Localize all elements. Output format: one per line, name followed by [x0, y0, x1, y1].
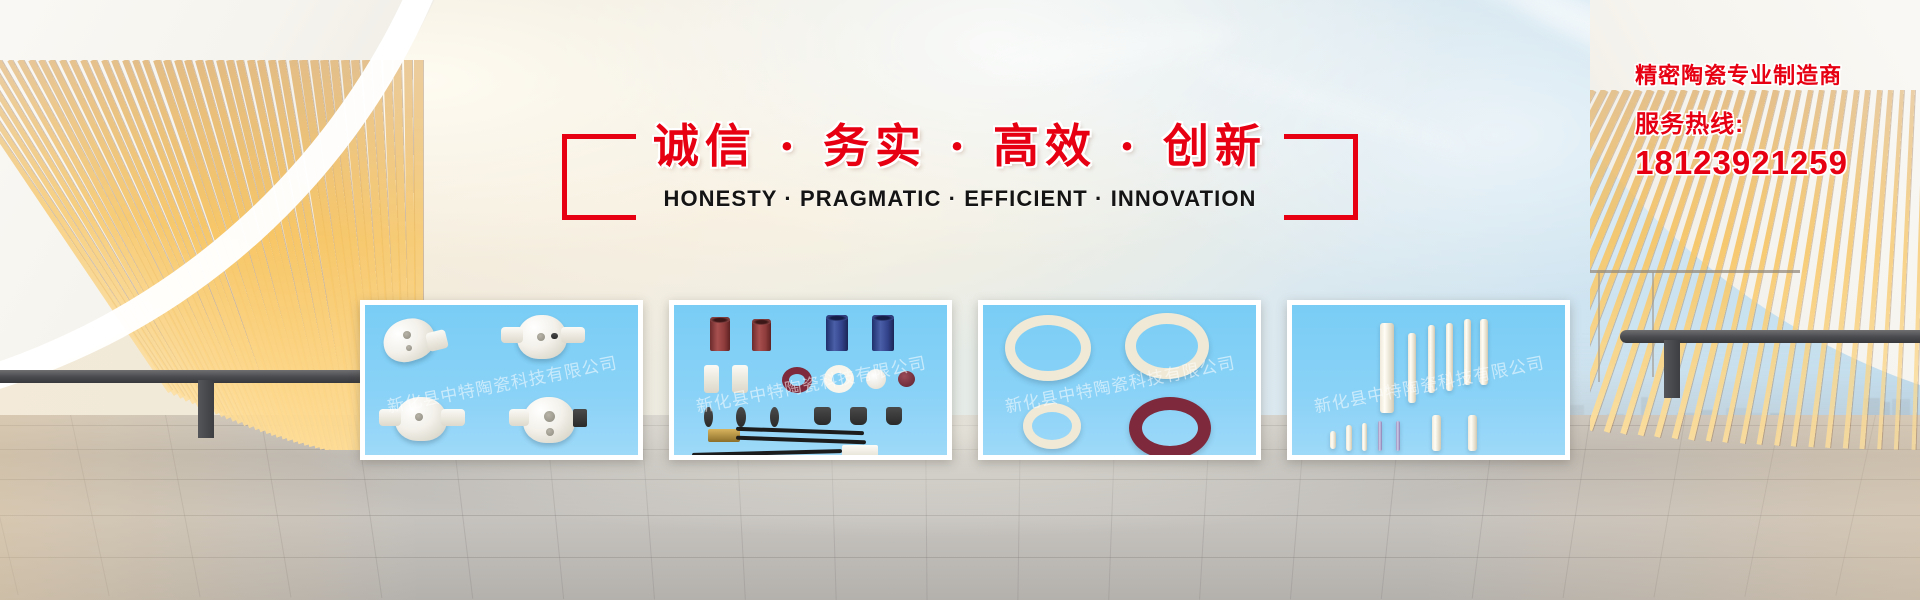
product-panel-lamp-holders[interactable]: 新化县中特陶瓷科技有限公司 — [360, 300, 643, 460]
lamp-holder-hole — [415, 413, 423, 421]
right-railing-post — [1664, 340, 1680, 398]
hotline-label: 服务热线: — [1635, 104, 1848, 139]
panel-reflection — [978, 465, 1261, 557]
maroon-washer — [782, 367, 812, 393]
lamp-holder-wing — [441, 409, 465, 426]
lamp-holder-hole — [544, 411, 555, 422]
ceramic-rod-small — [1432, 415, 1441, 451]
connector-wire — [736, 427, 864, 435]
ceramic-rod — [1408, 333, 1416, 403]
lamp-holder-hole — [537, 333, 545, 341]
right-guard-post — [1652, 272, 1654, 377]
promotional-banner: 诚信 · 务实 · 高效 · 创新 HONESTY · PRAGMATIC · … — [0, 0, 1920, 600]
ceramic-ring-large — [1125, 313, 1209, 379]
ceramic-rod-violet — [1396, 421, 1400, 451]
contact-block: 精密陶瓷专业制造商 服务热线: 18123921259 — [1635, 58, 1848, 182]
canopy-slat — [1912, 90, 1920, 450]
ceramic-plate — [732, 365, 748, 393]
ceramic-tube-blue — [826, 315, 848, 351]
lamp-holder-wing — [509, 409, 529, 426]
bracket-right-decoration — [1284, 134, 1358, 220]
ceramic-rod — [1464, 319, 1471, 385]
lamp-holder-hole — [403, 331, 411, 339]
product-panel-row: 新化县中特陶瓷科技有限公司 — [360, 300, 1570, 460]
ceramic-rod — [1446, 323, 1453, 391]
white-ring — [824, 365, 854, 393]
ceramic-rod — [1380, 323, 1394, 413]
panel-reflection — [1287, 465, 1570, 557]
product-panel-rings[interactable]: 新化县中特陶瓷科技有限公司 — [978, 300, 1261, 460]
slogan-block: 诚信 · 务实 · 高效 · 创新 HONESTY · PRAGMATIC · … — [580, 118, 1340, 212]
right-guard-post — [1598, 272, 1600, 382]
ceramic-rod-small — [1330, 431, 1336, 449]
lamp-holder-wing — [379, 409, 401, 426]
lamp-holder-hole — [546, 428, 554, 436]
ceramic-rod-violet — [1378, 421, 1382, 451]
slogan-chinese: 诚信 · 务实 · 高效 · 创新 — [580, 118, 1340, 176]
ceramic-ring-small — [1023, 403, 1081, 449]
small-dark-part — [704, 407, 713, 427]
product-panel-rods[interactable]: 新化县中特陶瓷科技有限公司 — [1287, 300, 1570, 460]
dark-clip — [886, 407, 902, 425]
ceramic-rod-small — [1346, 425, 1352, 451]
lamp-holder-contact — [573, 409, 587, 427]
company-tagline: 精密陶瓷专业制造商 — [1635, 58, 1848, 90]
connector-wire — [692, 449, 842, 455]
hotline-number[interactable]: 18123921259 — [1635, 144, 1848, 182]
maroon-ring — [1129, 397, 1211, 455]
small-dark-part — [770, 407, 779, 427]
slogan-english: HONESTY · PRAGMATIC · EFFICIENT · INNOVA… — [580, 186, 1340, 212]
lamp-holder-wing — [501, 327, 523, 343]
lamp-holder-contact — [551, 333, 558, 339]
dark-clip — [850, 407, 867, 425]
white-cap — [866, 369, 886, 389]
ceramic-tube-maroon — [710, 317, 730, 351]
ceramic-ring-large — [1005, 315, 1091, 381]
small-dark-part — [736, 407, 746, 427]
maroon-cap — [898, 371, 915, 387]
dark-clip — [814, 407, 831, 425]
ceramic-rod-small — [1468, 415, 1477, 451]
panel-reflection — [669, 465, 952, 557]
gold-connector — [708, 429, 740, 442]
right-guard-rail — [1590, 270, 1800, 273]
bracket-left-decoration — [562, 134, 636, 220]
ceramic-rod — [1480, 319, 1488, 385]
connector-wire — [736, 436, 866, 445]
white-connector — [842, 445, 878, 455]
panel-reflection — [360, 465, 643, 557]
ceramic-rod — [1428, 325, 1435, 393]
lamp-holder-wing — [561, 327, 585, 343]
ceramic-tube-maroon — [752, 319, 771, 351]
lamp-holder-wing — [425, 329, 449, 352]
product-panel-tubes[interactable]: 新化县中特陶瓷科技有限公司 — [669, 300, 952, 460]
left-railing-post — [198, 380, 214, 438]
ceramic-rod-small — [1362, 423, 1367, 451]
lamp-holder-hole — [406, 345, 412, 351]
ceramic-tube-blue — [872, 315, 894, 351]
ceramic-plate — [704, 365, 719, 393]
